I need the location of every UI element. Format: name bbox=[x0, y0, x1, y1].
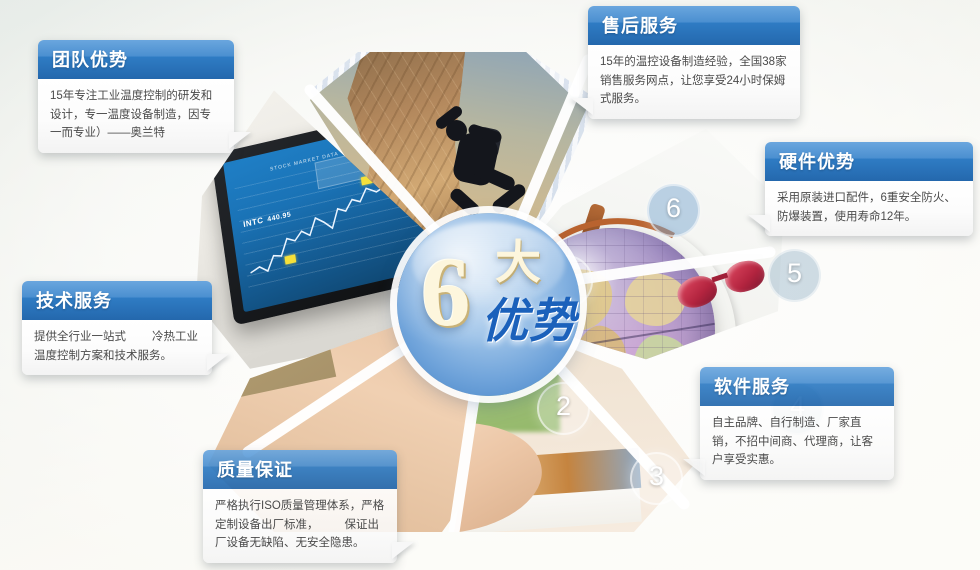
card-body-technical: 提供全行业一站式冷热工业温度控制方案和技术服务。 bbox=[22, 320, 212, 375]
quality-line-1: 严格执行ISO质量管理体系，严格 bbox=[215, 500, 384, 512]
center-logo-youshi: 优势 bbox=[481, 297, 577, 344]
card-body-software: 自主品牌、自行制造、厂家直销，不招中间商、代理商，让客户享受实惠。 bbox=[700, 406, 894, 480]
card-title-after-sales: 售后服务 bbox=[588, 6, 800, 45]
card-title-technical: 技术服务 bbox=[22, 281, 212, 320]
callout-card-hardware[interactable]: 硬件优势 采用原装进口配件，6重安全防火、防爆装置，使用寿命12年。 bbox=[765, 142, 973, 236]
callout-tail-hardware bbox=[748, 215, 770, 232]
center-logo-text: 6 大 优势 bbox=[397, 213, 580, 396]
quality-line-2a: 定制设备出厂标准， bbox=[215, 519, 319, 531]
card-title-team: 团队优势 bbox=[38, 40, 234, 79]
card-body-hardware: 采用原装进口配件，6重安全防火、防爆装置，使用寿命12年。 bbox=[765, 181, 973, 236]
technical-line-1b: 冷热工业 bbox=[152, 331, 198, 343]
step-number-badge-3[interactable]: 3 bbox=[630, 452, 683, 505]
quality-line-3: 厂设备无缺陷、无安全隐患。 bbox=[215, 537, 365, 549]
technical-line-2: 温度控制方案和技术服务。 bbox=[34, 350, 172, 362]
callout-card-after-sales[interactable]: 售后服务 15年的温控设备制造经验，全国38家销售服务网点，让您享受24小时保姆… bbox=[588, 6, 800, 119]
center-logo-number: 6 bbox=[421, 243, 471, 342]
center-logo-da: 大 bbox=[495, 239, 541, 285]
callout-card-team[interactable]: 团队优势 15年专注工业温度控制的研发和设计，专一温度设备制造，因专一而专业）—… bbox=[38, 40, 234, 153]
quality-line-2b: 保证出 bbox=[345, 519, 380, 531]
callout-tail-team bbox=[229, 132, 251, 149]
card-title-quality: 质量保证 bbox=[203, 450, 397, 489]
callout-tail-after-sales bbox=[571, 98, 593, 115]
card-title-hardware: 硬件优势 bbox=[765, 142, 973, 181]
center-logo-badge[interactable]: 6 大 优势 bbox=[397, 213, 580, 396]
callout-card-software[interactable]: 软件服务 自主品牌、自行制造、厂家直销，不招中间商、代理商，让客户享受实惠。 bbox=[700, 367, 894, 480]
card-title-software: 软件服务 bbox=[700, 367, 894, 406]
technical-line-1a: 提供全行业一站式 bbox=[34, 331, 126, 343]
card-body-after-sales: 15年的温控设备制造经验，全国38家销售服务网点，让您享受24小时保姆式服务。 bbox=[588, 45, 800, 119]
infographic-canvas: STOCK MARKET DATA INTC440.95 bbox=[0, 0, 980, 570]
callout-tail-technical bbox=[207, 354, 229, 371]
step-number-badge-5[interactable]: 5 bbox=[768, 249, 821, 302]
callout-tail-software bbox=[683, 459, 705, 476]
callout-tail-quality bbox=[392, 542, 414, 559]
callout-card-technical[interactable]: 技术服务 提供全行业一站式冷热工业温度控制方案和技术服务。 bbox=[22, 281, 212, 375]
card-body-quality: 严格执行ISO质量管理体系，严格定制设备出厂标准，保证出厂设备无缺陷、无安全隐患… bbox=[203, 489, 397, 563]
card-body-team: 15年专注工业温度控制的研发和设计，专一温度设备制造，因专一而专业）——奥兰特 bbox=[38, 79, 234, 153]
callout-card-quality[interactable]: 质量保证 严格执行ISO质量管理体系，严格定制设备出厂标准，保证出厂设备无缺陷、… bbox=[203, 450, 397, 563]
step-number-badge-6[interactable]: 6 bbox=[647, 184, 700, 237]
